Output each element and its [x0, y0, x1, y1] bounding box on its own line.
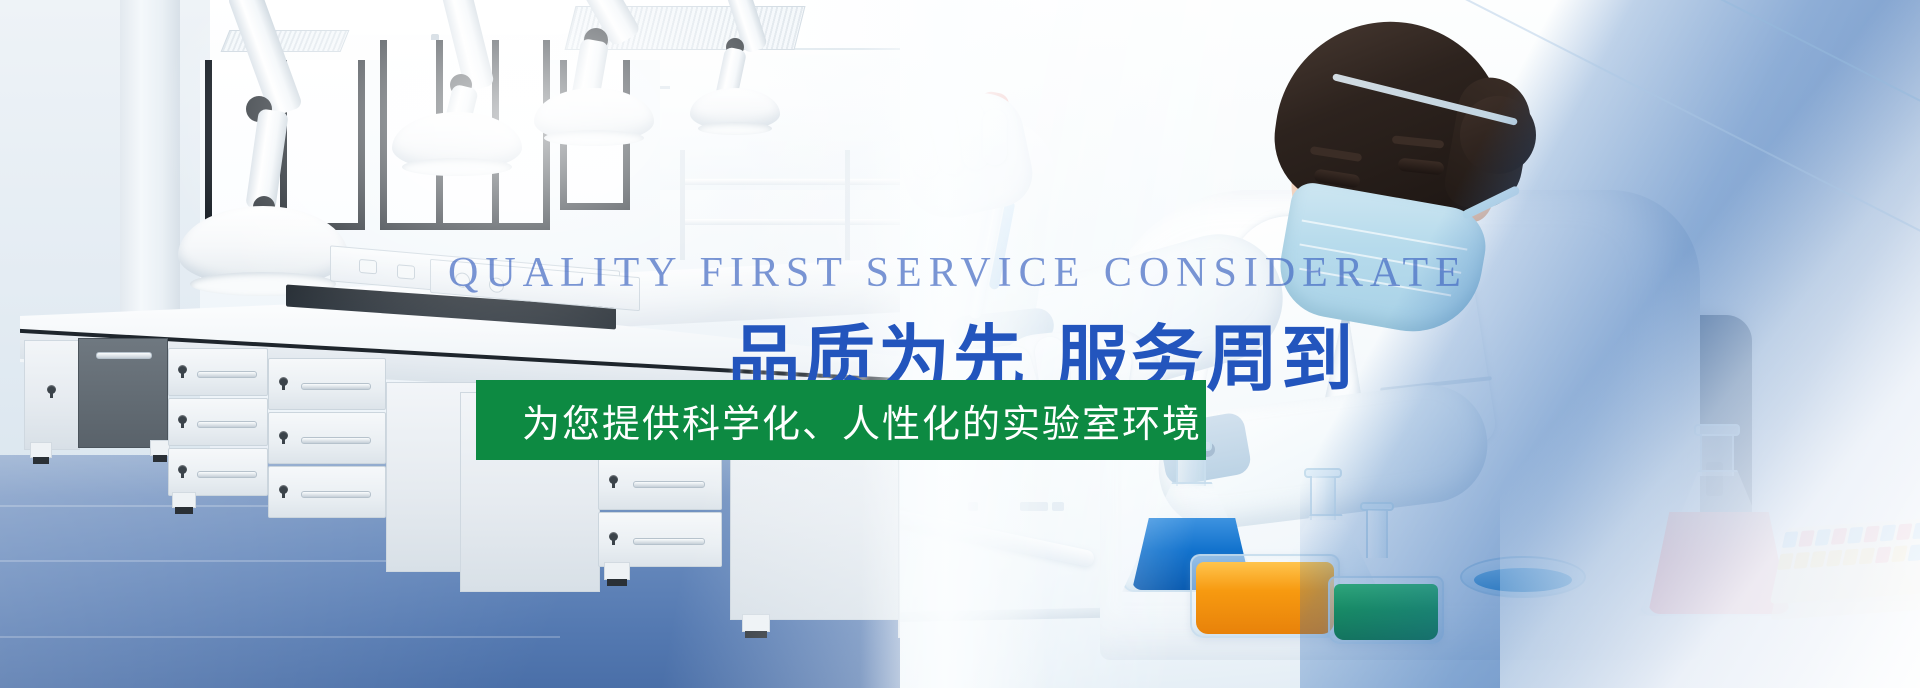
test-tube [1896, 523, 1913, 540]
cabinet-foot [172, 492, 196, 508]
test-tube [1859, 548, 1876, 565]
test-tube [1847, 527, 1864, 544]
drawer[interactable] [168, 348, 268, 396]
test-tube [1875, 546, 1892, 563]
drawer[interactable] [268, 412, 386, 464]
test-tube [1798, 530, 1815, 547]
drawer[interactable] [168, 398, 268, 446]
banner-subtitle-bar: 为您提供科学化、人性化的实验室环境 [476, 380, 1206, 460]
ceiling-light-panel [250, 0, 570, 26]
label-fragment [1052, 502, 1064, 511]
cabinet-foot [742, 614, 770, 632]
cabinet-foot [604, 562, 630, 580]
test-tube [1810, 551, 1827, 568]
drawer[interactable] [168, 448, 268, 496]
test-tube [1880, 525, 1897, 542]
test-tube [1907, 544, 1920, 561]
test-tube [1863, 526, 1880, 543]
test-tube [1912, 522, 1920, 539]
drawer-bank-b [268, 358, 386, 520]
cabinet-foot [30, 442, 52, 458]
test-tube [1782, 531, 1799, 548]
cabinet-foot [150, 440, 170, 456]
label-fragment [968, 502, 978, 511]
petri-dish-liquid [1474, 568, 1572, 592]
test-tube [1793, 552, 1810, 569]
under-bench-cabinet-left [24, 340, 80, 450]
test-tube [1777, 553, 1794, 570]
banner-subtitle-text: 为您提供科学化、人性化的实验室环境 [522, 393, 1202, 448]
label-fragment [1020, 502, 1048, 511]
test-tube [1842, 549, 1859, 566]
english-tagline: QUALITY FIRST SERVICE CONSIDERATE [448, 249, 1468, 297]
test-tube [1831, 528, 1848, 545]
test-tube [1891, 545, 1908, 562]
structural-column [120, 0, 180, 320]
cabinet-handle [96, 352, 152, 359]
drawer-bank-a [168, 348, 268, 498]
drawer[interactable] [598, 512, 722, 567]
test-tube [1826, 550, 1843, 567]
drawer[interactable] [268, 358, 386, 410]
test-tube [1814, 529, 1831, 546]
drawer[interactable] [598, 455, 722, 510]
hero-banner: QUALITY FIRST SERVICE CONSIDERATE 品质为先 服… [0, 0, 1920, 688]
drawer[interactable] [268, 466, 386, 518]
